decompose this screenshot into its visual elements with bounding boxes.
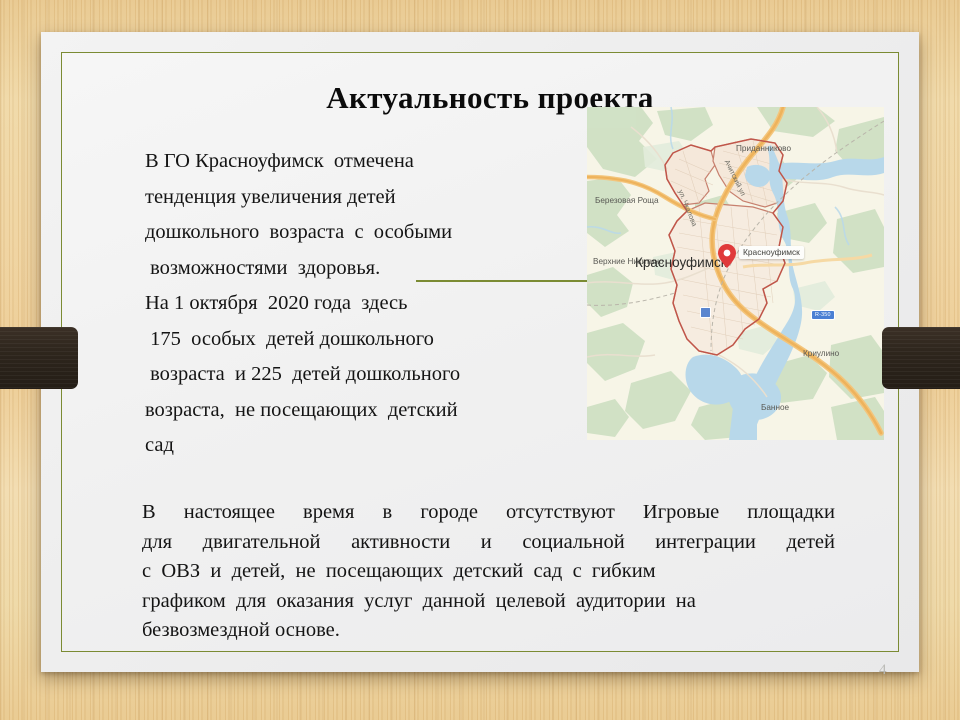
- intro-line: дошкольного возраста с особыми: [145, 215, 615, 251]
- decorative-ribbon-left: [0, 327, 78, 389]
- map-pin-callout: Красноуфимск: [739, 246, 804, 259]
- intro-paragraph: В ГО Красноуфимск отмечена тенденция уве…: [145, 144, 615, 464]
- map-image-krasnoufimsk: Приданниково Березовая Роща Верхние Ники…: [587, 107, 884, 440]
- map-marker-icon: [700, 307, 711, 318]
- map-pin-icon: [718, 244, 736, 268]
- conclusion-line: для двигательной активности и социальной…: [142, 528, 835, 558]
- intro-line: возраста и 225 детей дошкольного: [145, 357, 615, 393]
- intro-line: сад: [145, 428, 615, 464]
- page-number: 4: [879, 662, 887, 679]
- conclusion-line: графиком для оказания услуг данной целев…: [142, 587, 835, 617]
- conclusion-line: В настоящее время в городе отсутствуют И…: [142, 498, 835, 528]
- intro-line: тенденция увеличения детей: [145, 180, 615, 216]
- intro-line: 175 особых детей дошкольного: [145, 322, 615, 358]
- decorative-ribbon-right: [882, 327, 960, 389]
- conclusion-paragraph: В настоящее время в городе отсутствуют И…: [142, 498, 835, 646]
- road-shield-icon: R-350: [811, 310, 835, 320]
- intro-line: На 1 октября 2020 года здесь: [145, 286, 615, 322]
- intro-line: возраста, не посещающих детский: [145, 393, 615, 429]
- conclusion-line: с ОВЗ и детей, не посещающих детский сад…: [142, 557, 835, 587]
- intro-line: В ГО Красноуфимск отмечена: [145, 144, 615, 180]
- conclusion-line: безвозмездной основе.: [142, 616, 835, 646]
- map-graphic: [587, 107, 884, 440]
